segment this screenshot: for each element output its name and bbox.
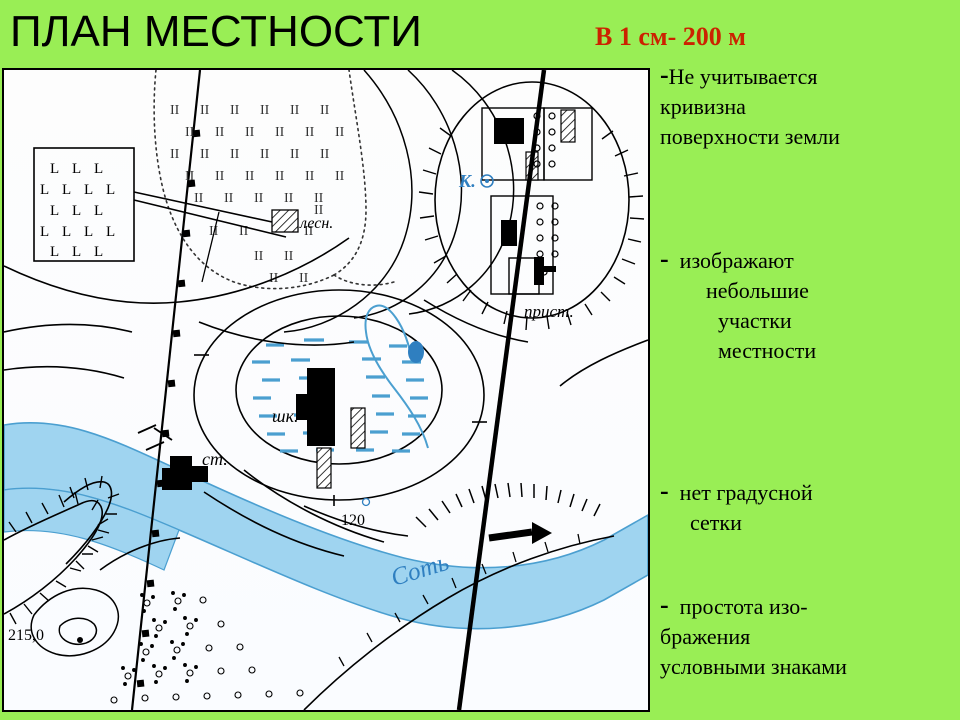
- svg-text:II: II: [320, 147, 330, 162]
- svg-text:II: II: [335, 125, 345, 140]
- svg-text:L: L: [84, 224, 93, 240]
- svg-text:L: L: [50, 244, 59, 260]
- note-item-1: - изображают небольшие участки местности: [660, 246, 960, 366]
- note-line: кривизна: [660, 92, 960, 122]
- scale-note: В 1 см- 200 м: [595, 22, 746, 52]
- note-line: изображают: [680, 248, 794, 273]
- svg-text:II: II: [275, 169, 285, 184]
- note-item-2: - нет градусной сетки: [660, 478, 960, 538]
- map-label-elevation-215: 215,0: [8, 627, 44, 644]
- svg-text:II: II: [275, 125, 285, 140]
- svg-text:II: II: [260, 103, 270, 118]
- svg-text:II: II: [200, 147, 210, 162]
- map-label-pier: прист.: [524, 302, 574, 321]
- svg-text:L: L: [84, 182, 93, 198]
- page-title: ПЛАН МЕСТНОСТИ: [10, 8, 422, 56]
- svg-text:II: II: [320, 103, 330, 118]
- svg-text:II: II: [224, 191, 234, 206]
- svg-text:II: II: [290, 147, 300, 162]
- svg-text:II: II: [170, 103, 180, 118]
- svg-text:II: II: [284, 191, 294, 206]
- map-label-station: ст.: [202, 449, 228, 469]
- svg-text:К.: К.: [458, 171, 476, 191]
- topographic-map: Соть К.: [2, 68, 650, 712]
- map-label-school: шк.: [272, 406, 299, 426]
- bullet-dash-icon: -: [660, 62, 669, 88]
- svg-text:II: II: [170, 147, 180, 162]
- bullet-dash-icon: -: [660, 246, 669, 272]
- note-item-0: -Не учитывается кривизна поверхности зем…: [660, 62, 960, 152]
- svg-text:II: II: [305, 169, 315, 184]
- notes-panel: -Не учитывается кривизна поверхности зем…: [660, 60, 960, 720]
- bullet-dash-icon: -: [660, 478, 669, 504]
- elevation-point-215: [77, 637, 83, 643]
- svg-text:L: L: [72, 203, 81, 219]
- note-item-3: - простота изо- бражения условными знака…: [660, 592, 960, 682]
- svg-text:II: II: [245, 169, 255, 184]
- note-line: участки: [660, 306, 960, 336]
- svg-text:II: II: [260, 147, 270, 162]
- svg-text:II: II: [230, 147, 240, 162]
- svg-text:II: II: [305, 125, 315, 140]
- svg-text:II: II: [215, 125, 225, 140]
- svg-text:L: L: [72, 244, 81, 260]
- note-line: небольшие: [660, 276, 960, 306]
- svg-text:L: L: [40, 224, 49, 240]
- note-line: нет градусной: [680, 480, 813, 505]
- spring-source: [408, 341, 424, 363]
- svg-text:II: II: [185, 125, 195, 140]
- svg-text:L: L: [72, 161, 81, 177]
- svg-text:II: II: [284, 249, 294, 264]
- svg-text:L: L: [62, 182, 71, 198]
- note-line: бражения: [660, 622, 960, 652]
- note-line: поверхности земли: [660, 122, 960, 152]
- svg-text:L: L: [94, 161, 103, 177]
- svg-text:II: II: [290, 103, 300, 118]
- svg-text:II: II: [245, 125, 255, 140]
- svg-text:II: II: [254, 249, 264, 264]
- svg-text:L: L: [94, 244, 103, 260]
- note-line: условными знаками: [660, 652, 960, 682]
- svg-text:L: L: [50, 161, 59, 177]
- svg-text:L: L: [62, 224, 71, 240]
- note-line: Не учитывается: [669, 64, 818, 89]
- svg-text:II: II: [215, 169, 225, 184]
- svg-text:II: II: [299, 271, 309, 286]
- svg-text:L: L: [106, 224, 115, 240]
- svg-text:II: II: [200, 103, 210, 118]
- svg-text:L: L: [94, 203, 103, 219]
- map-label-forester: лесн.: [299, 215, 333, 232]
- svg-text:II: II: [230, 103, 240, 118]
- svg-text:II: II: [335, 169, 345, 184]
- svg-text:L: L: [40, 182, 49, 198]
- svg-text:II: II: [185, 169, 195, 184]
- svg-text:L: L: [106, 182, 115, 198]
- svg-text:II: II: [254, 191, 264, 206]
- note-line: сетки: [660, 508, 960, 538]
- note-line: простота изо-: [680, 594, 808, 619]
- note-line: местности: [660, 336, 960, 366]
- svg-text:II: II: [194, 191, 204, 206]
- bullet-dash-icon: -: [660, 592, 669, 618]
- svg-text:L: L: [50, 203, 59, 219]
